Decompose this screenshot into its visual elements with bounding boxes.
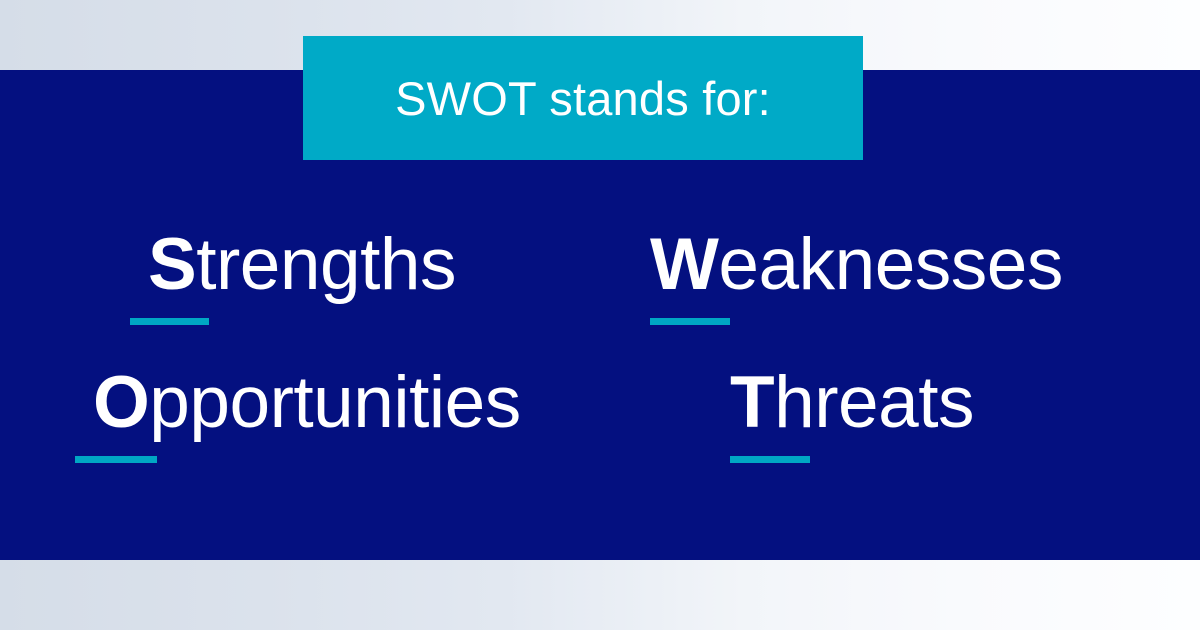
swot-initial-w: W	[650, 224, 718, 305]
underline-accent-opportunities	[75, 456, 157, 463]
swot-infographic: SWOT stands for: Strengths Weaknesses Op…	[0, 0, 1200, 630]
swot-initial-t: T	[730, 362, 774, 443]
swot-rest-weaknesses: eaknesses	[718, 224, 1063, 305]
swot-term-weaknesses: Weaknesses	[650, 228, 1063, 301]
swot-term-opportunities: Opportunities	[93, 366, 521, 439]
swot-initial-o: O	[93, 362, 149, 443]
underline-accent-strengths	[130, 318, 209, 325]
swot-term-strengths: Strengths	[148, 228, 456, 301]
swot-rest-opportunities: pportunities	[149, 362, 520, 443]
header-banner: SWOT stands for:	[303, 36, 863, 160]
underline-accent-threats	[730, 456, 810, 463]
header-title: SWOT stands for:	[303, 36, 863, 160]
swot-term-threats: Threats	[730, 366, 974, 439]
underline-accent-weaknesses	[650, 318, 730, 325]
swot-rest-strengths: trengths	[196, 224, 456, 305]
swot-rest-threats: hreats	[774, 362, 974, 443]
swot-initial-s: S	[148, 224, 196, 305]
